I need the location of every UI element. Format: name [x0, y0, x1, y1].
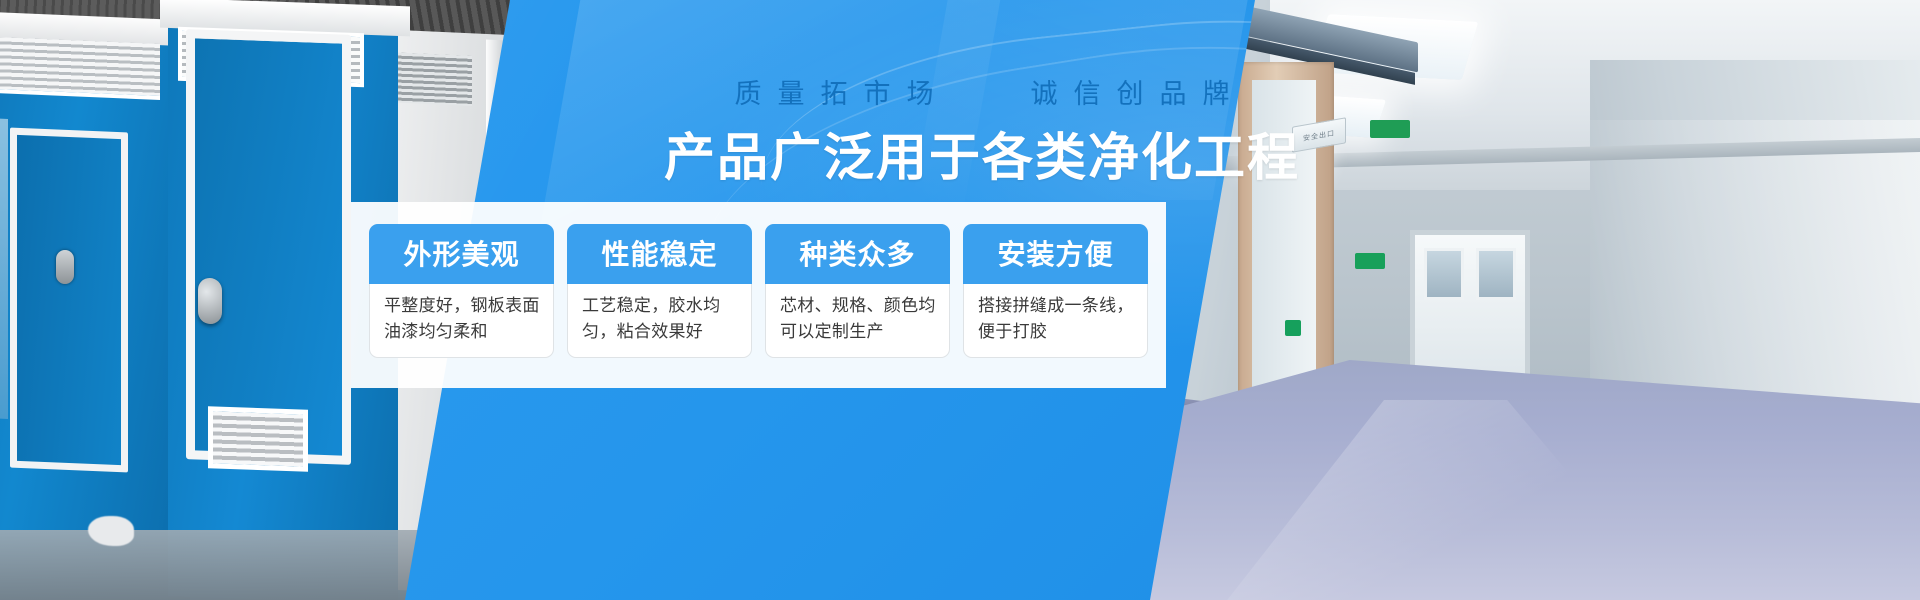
- door-window-right: [1476, 248, 1516, 300]
- feature-cards-panel: 外形美观 平整度好，钢板表面油漆均匀柔和 性能稳定 工艺稳定，胶水均匀，粘合效果…: [351, 202, 1166, 388]
- banner-headline: 产品广泛用于各类净化工程: [0, 116, 1920, 190]
- cabin-main-lock-icon: [198, 278, 222, 325]
- feature-card-3[interactable]: 种类众多 芯材、规格、颜色均可以定制生产: [765, 224, 950, 358]
- feature-card-4-body: 搭接拼缝成一条线，便于打胶: [964, 283, 1147, 357]
- door-window-left: [1424, 248, 1464, 300]
- banner-tagline: 质量拓市场 诚信创品牌: [0, 72, 1920, 111]
- feature-card-4-title: 安装方便: [963, 224, 1148, 284]
- ground-stone: [88, 516, 134, 546]
- promo-banner: 安全出口 质量拓市场 诚信创品牌 产品广泛用于各类净化工程 外形美观 平整度好，…: [0, 0, 1920, 600]
- feature-card-1-body: 平整度好，钢板表面油漆均匀柔和: [370, 283, 553, 357]
- panel-ghost-shape-1: [540, 0, 1001, 230]
- cabin-main-lower-vent: [208, 406, 308, 471]
- feature-card-2-body: 工艺稳定，胶水均匀，粘合效果好: [568, 283, 751, 357]
- tagline-part-1: 质量拓市场: [734, 79, 949, 109]
- feature-card-3-body: 芯材、规格、颜色均可以定制生产: [766, 283, 949, 357]
- wall-green-badge: [1355, 253, 1385, 269]
- feature-card-1[interactable]: 外形美观 平整度好，钢板表面油漆均匀柔和: [369, 224, 554, 358]
- fire-extinguisher-marker: [1285, 320, 1301, 336]
- feature-card-2-title: 性能稳定: [567, 224, 752, 284]
- cabin-left-lock-icon: [56, 250, 74, 284]
- feature-card-2[interactable]: 性能稳定 工艺稳定，胶水均匀，粘合效果好: [567, 224, 752, 358]
- feature-card-3-title: 种类众多: [765, 224, 950, 284]
- feature-card-4[interactable]: 安装方便 搭接拼缝成一条线，便于打胶: [963, 224, 1148, 358]
- tagline-part-2: 诚信创品牌: [1031, 79, 1246, 109]
- feature-card-1-title: 外形美观: [369, 224, 554, 284]
